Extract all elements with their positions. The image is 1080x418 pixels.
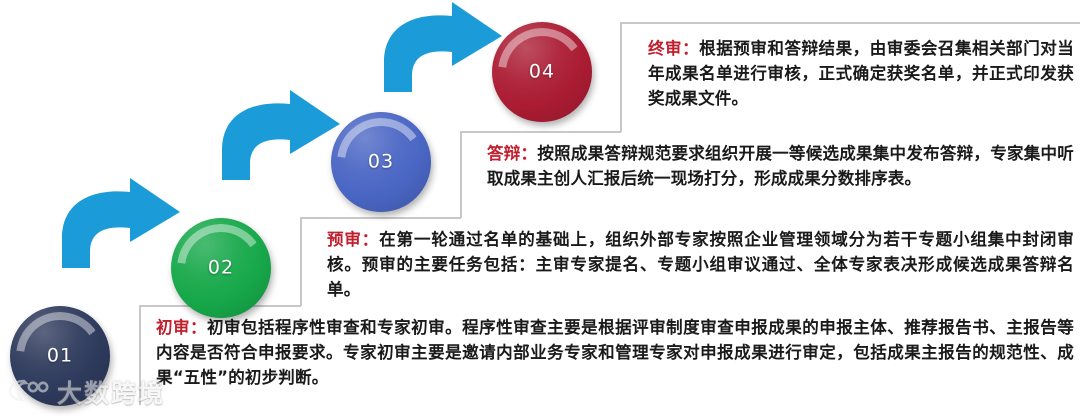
step-sphere-03[interactable]: 03 xyxy=(331,112,431,212)
watermark: 大数跨境 xyxy=(8,374,165,410)
description-text-02: 在第一轮通过名单的基础上，组织外部专家按照企业管理领域分为若干专题小组集中封闭审… xyxy=(327,230,1074,299)
description-03: 答辩：按照成果答辩规范要求组织开展一等候选成果集中发布答辩，专家集中听取成果主创… xyxy=(487,141,1074,191)
watermark-logo-icon xyxy=(8,377,50,407)
step-line-vertical-3 xyxy=(460,131,462,218)
description-text-04: 根据预审和答辩结果，由审委会召集相关部门对当年成果名单进行审核，正式确定获奖名单… xyxy=(648,39,1074,108)
step-line-vertical-2 xyxy=(300,217,302,306)
step-number-02: 02 xyxy=(171,257,271,279)
step-sphere-02[interactable]: 02 xyxy=(171,218,271,318)
description-text-01: 初审包括程序性审查和专家初审。程序性审查主要是根据评审制度审查申报成果的申报主体… xyxy=(156,318,1074,387)
description-01: 初审：初审包括程序性审查和专家初审。程序性审查主要是根据评审制度审查申报成果的申… xyxy=(156,315,1074,390)
step-line-vertical-4 xyxy=(620,22,622,132)
description-label-04: 终审 xyxy=(648,39,682,58)
step-line-horizontal-4 xyxy=(620,22,1080,24)
description-label-suffix-02: ： xyxy=(362,230,379,249)
description-label-03: 答辩 xyxy=(487,144,521,163)
description-label-suffix-03: ： xyxy=(521,144,538,163)
description-label-02: 预审 xyxy=(327,230,362,249)
description-02: 预审：在第一轮通过名单的基础上，组织外部专家按照企业管理领域分为若干专题小组集中… xyxy=(327,227,1074,302)
step-number-03: 03 xyxy=(331,151,431,173)
step-line-horizontal-2 xyxy=(300,217,461,219)
description-label-suffix-04: ： xyxy=(682,39,699,58)
step-number-01: 01 xyxy=(10,345,110,367)
watermark-text: 大数跨境 xyxy=(57,374,165,410)
description-04: 终审：根据预审和答辩结果，由审委会召集相关部门对当年成果名单进行审核，正式确定获… xyxy=(648,36,1074,111)
description-label-suffix-01: ： xyxy=(190,318,207,337)
step-line-horizontal-3 xyxy=(460,131,621,133)
description-label-01: 初审 xyxy=(156,318,190,337)
step-sphere-04[interactable]: 04 xyxy=(492,22,592,122)
step-number-04: 04 xyxy=(492,61,592,83)
infographic-canvas: 01 02 03 04 终审：根据预审和答辩结果，由审委会召集相关部门对当年成果… xyxy=(0,0,1080,416)
description-text-03: 按照成果答辩规范要求组织开展一等候选成果集中发布答辩，专家集中听取成果主创人汇报… xyxy=(487,144,1074,188)
